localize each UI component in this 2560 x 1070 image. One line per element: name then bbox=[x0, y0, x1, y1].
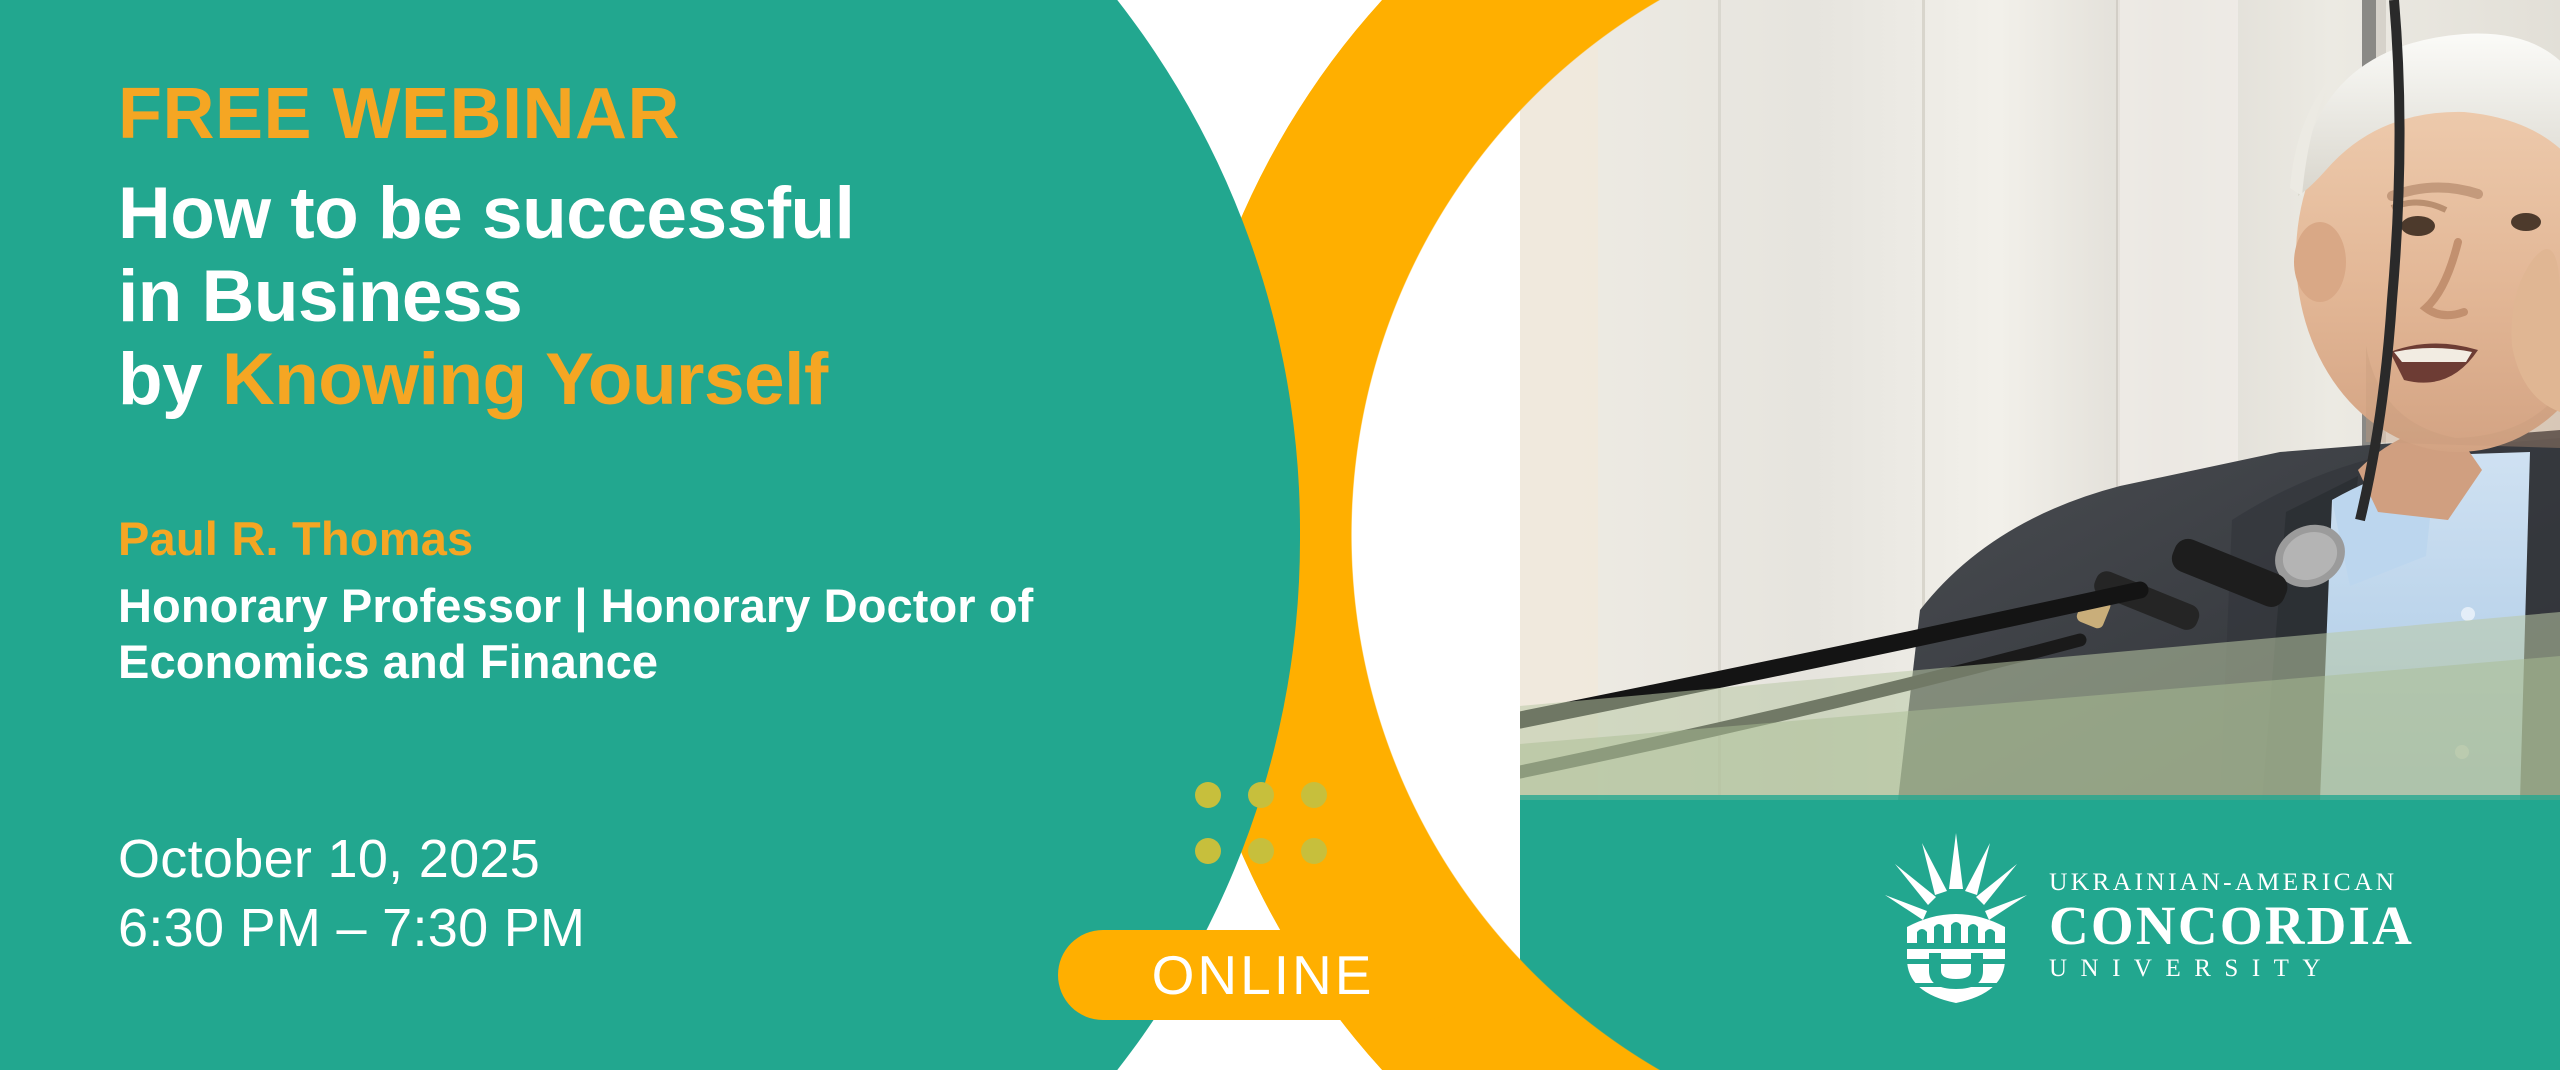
concordia-university-logo: UKRAINIAN-AMERICAN CONCORDIA UNIVERSITY bbox=[1885, 828, 2375, 1006]
speaker-photo-illustration bbox=[1520, 0, 2560, 800]
headline-line-1: How to be successful bbox=[118, 173, 854, 254]
decor-dot bbox=[1248, 782, 1274, 808]
decor-dot bbox=[1301, 782, 1327, 808]
webinar-promo-banner: FREE WEBINAR How to be successful in Bus… bbox=[0, 0, 2560, 1070]
headline-line-3-accent: Knowing Yourself bbox=[222, 339, 828, 420]
speaker-role-line-2: Economics and Finance bbox=[118, 635, 658, 688]
decor-dot bbox=[1195, 782, 1221, 808]
speaker-role-line-1: Honorary Professor | Honorary Doctor of bbox=[118, 579, 1033, 632]
decor-dot bbox=[1195, 838, 1221, 864]
speaker-role: Honorary Professor | Honorary Doctor of … bbox=[118, 578, 1298, 691]
event-time: 6:30 PM – 7:30 PM bbox=[118, 898, 585, 958]
logo-line-bottom: UNIVERSITY bbox=[2049, 955, 2414, 983]
speaker-photo bbox=[1520, 0, 2560, 800]
event-datetime: October 10, 2025 6:30 PM – 7:30 PM bbox=[118, 825, 585, 963]
page-title: How to be successful in Business by Know… bbox=[118, 172, 1298, 422]
headline-line-2: in Business bbox=[118, 256, 522, 337]
statue-of-liberty-crown-shield-icon bbox=[1885, 831, 2027, 1003]
logo-line-top: UKRAINIAN-AMERICAN bbox=[2049, 869, 2414, 896]
decor-dot bbox=[1301, 838, 1327, 864]
headline-line-3-plain: by bbox=[118, 339, 222, 420]
dot-grid-decoration bbox=[1195, 782, 1327, 864]
event-date: October 10, 2025 bbox=[118, 829, 540, 889]
logo-wordmark: UKRAINIAN-AMERICAN CONCORDIA UNIVERSITY bbox=[2049, 851, 2414, 983]
banner-content: FREE WEBINAR How to be successful in Bus… bbox=[118, 0, 1368, 1070]
decor-dot bbox=[1248, 838, 1274, 864]
speaker-name: Paul R. Thomas bbox=[118, 513, 473, 565]
online-format-badge[interactable]: ONLINE bbox=[1058, 930, 1468, 1020]
kicker-label: FREE WEBINAR bbox=[118, 78, 680, 150]
logo-line-mid: CONCORDIA bbox=[2049, 896, 2414, 955]
